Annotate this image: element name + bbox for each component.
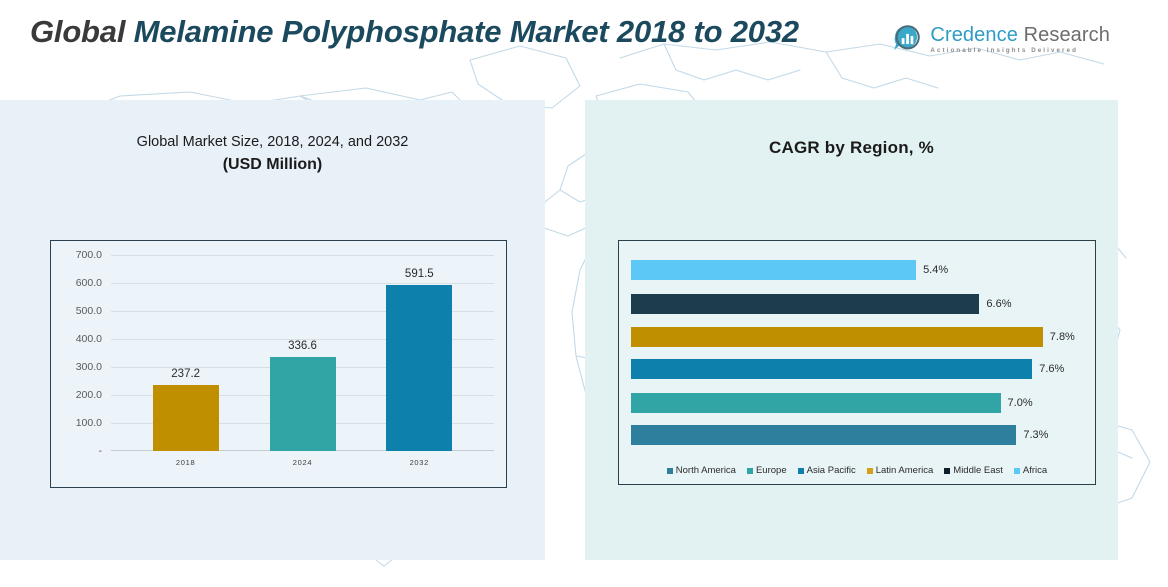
y-axis-tick-label: 700.0 (76, 249, 102, 261)
legend-swatch (1014, 468, 1020, 474)
column-bar[interactable]: 336.62024 (270, 357, 336, 451)
bar-row: 7.6% (631, 359, 1085, 379)
bar-value-label: 336.6 (288, 340, 317, 352)
column-bar[interactable]: 591.52032 (386, 285, 452, 451)
page-title: Global Melamine Polyphosphate Market 201… (30, 12, 900, 52)
column-chart-plot-area: -100.0200.0300.0400.0500.0600.0700.0237.… (111, 255, 494, 451)
legend-label: Latin America (876, 465, 934, 476)
page-title-plain: Global (30, 14, 134, 49)
legend-swatch (747, 468, 753, 474)
left-chart-title-line1: Global Market Size, 2018, 2024, and 2032 (0, 134, 545, 150)
y-axis-tick-label: 100.0 (76, 417, 102, 429)
bar-row: 7.8% (631, 327, 1085, 347)
legend-label: Asia Pacific (807, 465, 856, 476)
cagr-by-region-chart: 5.4%6.6%7.8%7.6%7.0%7.3% North AmericaEu… (618, 240, 1096, 485)
horizontal-bar[interactable] (631, 294, 979, 314)
legend-item[interactable]: Middle East (944, 465, 1003, 476)
global-market-size-chart: -100.0200.0300.0400.0500.0600.0700.0237.… (50, 240, 507, 488)
y-axis-tick-label: 200.0 (76, 389, 102, 401)
bar-value-label: 591.5 (405, 268, 434, 280)
legend-label: Europe (756, 465, 787, 476)
page-title-accent: Melamine Polyphosphate Market 2018 to 20… (134, 14, 799, 49)
logo-name: Credence Research (930, 25, 1110, 45)
legend-item[interactable]: North America (667, 465, 736, 476)
horizontal-bar[interactable] (631, 260, 916, 280)
bar-value-label: 6.6% (986, 298, 1011, 310)
right-chart-title: CAGR by Region, % (585, 138, 1118, 158)
bar-chart-bubble-icon (889, 22, 923, 56)
bar-value-label: 237.2 (171, 368, 200, 380)
x-axis-category-label: 2018 (176, 458, 196, 467)
x-axis-category-label: 2032 (410, 458, 430, 467)
bar-value-label: 7.6% (1039, 363, 1064, 375)
legend-swatch (798, 468, 804, 474)
header: Global Melamine Polyphosphate Market 201… (0, 0, 1168, 100)
legend-item[interactable]: Asia Pacific (798, 465, 856, 476)
left-chart-title-line2: (USD Million) (0, 156, 545, 174)
left-panel: Global Market Size, 2018, 2024, and 2032… (0, 100, 545, 560)
column-bar[interactable]: 237.22018 (153, 385, 219, 451)
legend-label: Middle East (953, 465, 1003, 476)
logo-name-research: Research (1018, 24, 1110, 46)
y-axis-tick-label: - (99, 445, 103, 457)
logo-name-credence: Credence (930, 24, 1018, 46)
brand-logo: Credence Research Actionable Insights De… (889, 22, 1110, 56)
legend-item[interactable]: Latin America (867, 465, 934, 476)
right-panel: CAGR by Region, % 5.4%6.6%7.8%7.6%7.0%7.… (585, 100, 1118, 560)
horizontal-bar[interactable] (631, 425, 1016, 445)
gridline (111, 255, 494, 256)
legend-item[interactable]: Europe (747, 465, 787, 476)
legend-swatch (944, 468, 950, 474)
horizontal-bar[interactable] (631, 359, 1032, 379)
y-axis-tick-label: 600.0 (76, 277, 102, 289)
horizontal-bar[interactable] (631, 393, 1001, 413)
legend-label: Africa (1023, 465, 1047, 476)
cagr-legend: North AmericaEuropeAsia PacificLatin Ame… (619, 465, 1095, 476)
bar-chart-plot-area: 5.4%6.6%7.8%7.6%7.0%7.3% (631, 254, 1085, 452)
bar-row: 7.0% (631, 393, 1085, 413)
bar-row: 5.4% (631, 260, 1085, 280)
legend-swatch (867, 468, 873, 474)
bar-value-label: 5.4% (923, 264, 948, 276)
y-axis-tick-label: 500.0 (76, 305, 102, 317)
gridline (111, 283, 494, 284)
y-axis-tick-label: 400.0 (76, 333, 102, 345)
legend-swatch (667, 468, 673, 474)
legend-item[interactable]: Africa (1014, 465, 1047, 476)
logo-tagline: Actionable Insights Delivered (930, 48, 1110, 54)
bar-value-label: 7.8% (1050, 331, 1075, 343)
x-axis-category-label: 2024 (293, 458, 313, 467)
bar-row: 7.3% (631, 425, 1085, 445)
legend-label: North America (676, 465, 736, 476)
bar-value-label: 7.3% (1023, 429, 1048, 441)
bar-value-label: 7.0% (1008, 397, 1033, 409)
bar-row: 6.6% (631, 294, 1085, 314)
y-axis-tick-label: 300.0 (76, 361, 102, 373)
logo-text: Credence Research Actionable Insights De… (930, 23, 1110, 54)
horizontal-bar[interactable] (631, 327, 1043, 347)
